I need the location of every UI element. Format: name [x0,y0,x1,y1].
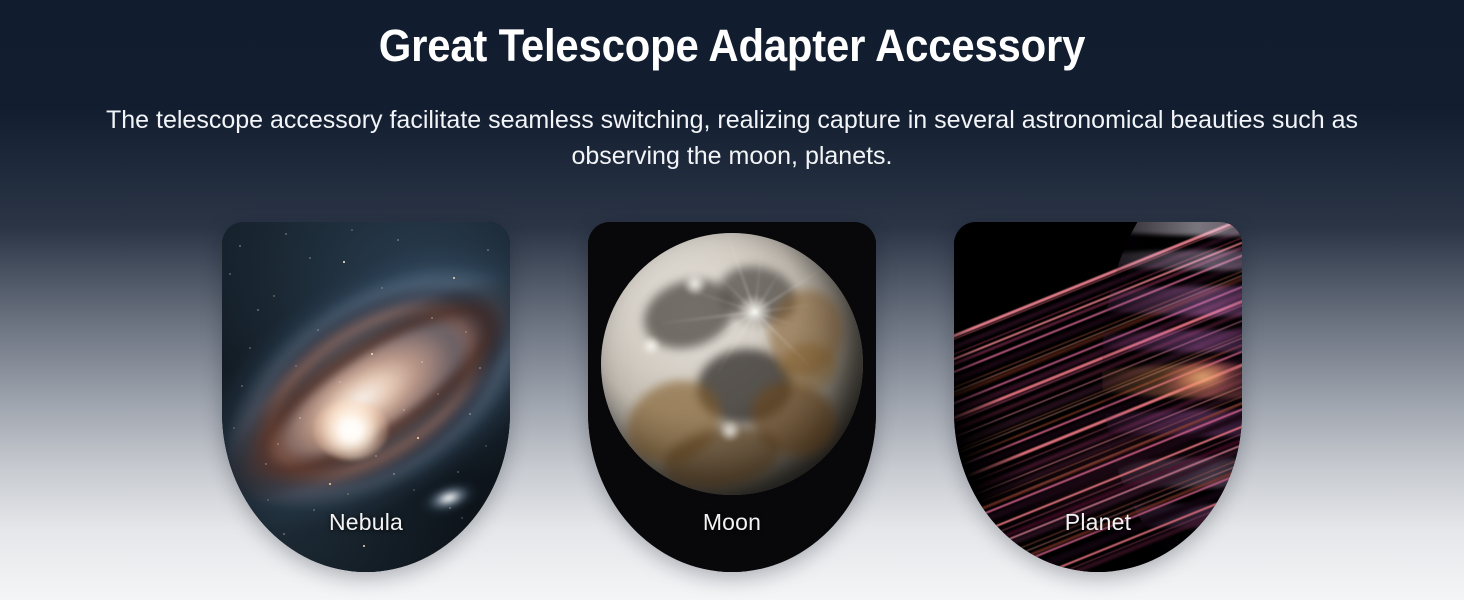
galaxy-core [314,400,388,460]
feature-card-moon[interactable]: Moon [588,222,876,572]
card-label-moon: Moon [588,509,876,536]
card-label-nebula: Nebula [222,509,510,536]
page-title: Great Telescope Adapter Accessory [51,22,1413,71]
feature-card-nebula[interactable]: Nebula [222,222,510,572]
feature-card-row: Nebula [0,222,1464,572]
page-subtitle: The telescope accessory facilitate seaml… [57,103,1407,174]
feature-card-planet[interactable]: Planet [954,222,1242,572]
moon-disc [601,233,863,495]
card-label-planet: Planet [954,509,1242,536]
moon-terminator-shading [601,233,863,495]
promo-banner: Great Telescope Adapter Accessory The te… [0,0,1464,600]
